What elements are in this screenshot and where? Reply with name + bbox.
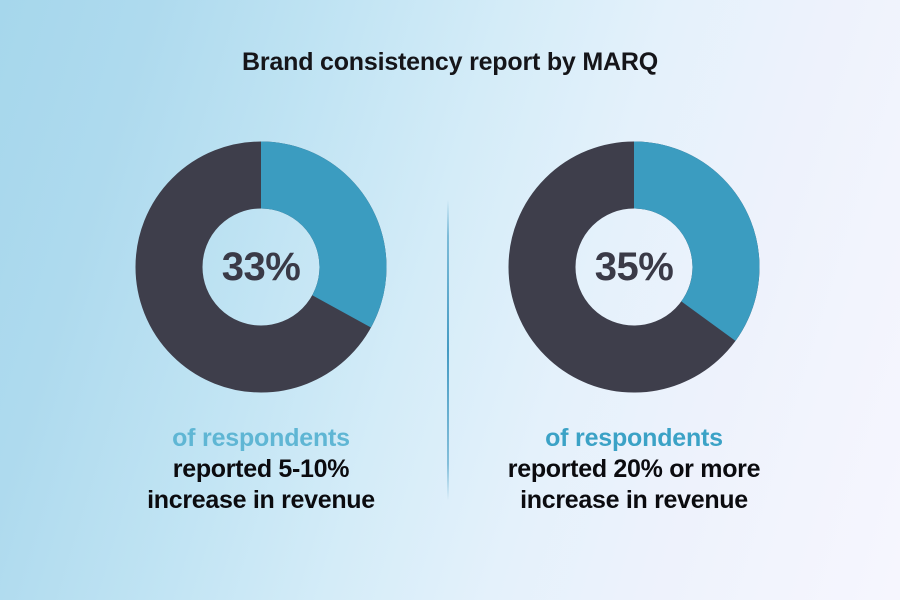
caption-highlight-right: of respondents	[424, 423, 844, 454]
stat-panel-left: 33% of respondents reported 5-10% increa…	[51, 120, 471, 550]
donut-chart-left: 33%	[135, 141, 387, 393]
caption-highlight-left: of respondents	[51, 423, 471, 454]
donut-chart-right: 35%	[508, 141, 760, 393]
donut-center-value-left: 33%	[135, 141, 387, 393]
caption-line-right-2: increase in revenue	[424, 485, 844, 516]
donut-center-value-right: 35%	[508, 141, 760, 393]
stat-panel-right: 35% of respondents reported 20% or more …	[424, 120, 844, 550]
caption-line-left-2: increase in revenue	[51, 485, 471, 516]
page-title: Brand consistency report by MARQ	[0, 48, 900, 77]
caption-line-left-1: reported 5-10%	[51, 454, 471, 485]
caption-left: of respondents reported 5-10% increase i…	[51, 423, 471, 515]
caption-line-right-1: reported 20% or more	[424, 454, 844, 485]
caption-right: of respondents reported 20% or more incr…	[424, 423, 844, 515]
infographic-canvas: Brand consistency report by MARQ 33% of …	[0, 0, 900, 600]
